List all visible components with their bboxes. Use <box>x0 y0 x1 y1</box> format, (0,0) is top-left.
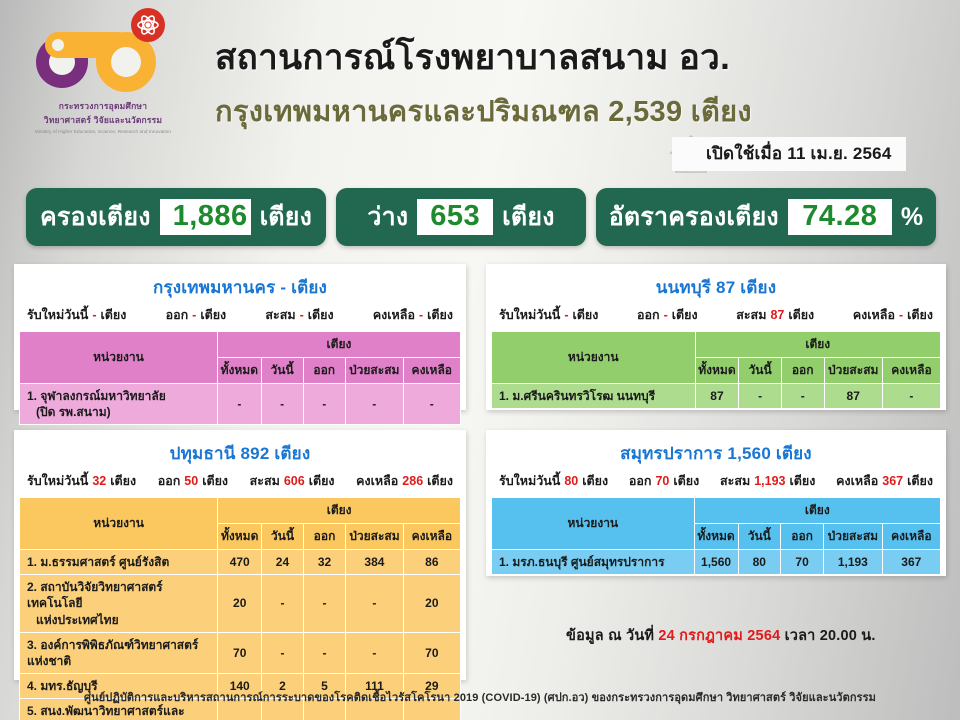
stat-value-rate: 74.28 <box>788 199 892 235</box>
table-row: 2. สถาบันวิจัยวิทยาศาสตร์เทคโนโลยี แห่งป… <box>20 575 461 633</box>
mhesi-logo-mark <box>22 6 184 98</box>
col-cumulative: ป่วยสะสม <box>346 524 404 550</box>
table-header-group-row: หน่วยงาน เตียง <box>20 332 461 358</box>
col-today: วันนี้ <box>738 524 781 550</box>
asof-prefix: ข้อมูล ณ วันที่ <box>566 628 654 644</box>
stat-label-rate-right: % <box>901 203 923 232</box>
col-today: วันนี้ <box>739 358 781 384</box>
card-title-nonthaburi: นนทบุรี 87 เตียง <box>491 269 941 305</box>
province-card-bangkok: กรุงเทพมหานคร - เตียง รับใหม่วันนี้ - เต… <box>14 264 466 410</box>
cell-total: - <box>217 384 261 425</box>
col-remaining: คงเหลือ <box>403 358 460 384</box>
page-footer: ศูนย์ปฏิบัติการและบริหารสถานการณ์การระบา… <box>0 688 960 706</box>
col-today: วันนี้ <box>261 358 303 384</box>
cell-total: 1,560 <box>694 550 738 575</box>
cell-total: 470 <box>218 550 262 575</box>
stat-label-occupied-right: เตียง <box>260 197 312 237</box>
stat-card-occupancy-rate: อัตราครองเตียง 74.28 % <box>596 188 936 246</box>
cell-today: - <box>739 384 781 409</box>
stat-card-occupied-beds: ครองเตียง 1,886 เตียง <box>26 188 326 246</box>
bed-table-samutprakan: หน่วยงาน เตียง ทั้งหมด วันนี้ ออก ป่วยสะ… <box>491 497 941 575</box>
cell-remaining: - <box>403 384 460 425</box>
col-out: ออก <box>303 358 345 384</box>
table-row: 1. จุฬาลงกรณ์มหาวิทยาลัย (ปิด รพ.สนาม) -… <box>20 384 461 425</box>
summary-cumulative: สะสม 606 เตียง <box>250 471 335 491</box>
col-total: ทั้งหมด <box>218 524 262 550</box>
bed-table-nonthaburi: หน่วยงาน เตียง ทั้งหมด วันนี้ ออก ป่วยสะ… <box>491 331 941 409</box>
col-remaining: คงเหลือ <box>403 524 460 550</box>
cell-total: 70 <box>218 632 262 673</box>
col-group-beds: เตียง <box>694 498 940 524</box>
cell-out: - <box>303 575 345 633</box>
col-today: วันนี้ <box>262 524 304 550</box>
cell-today: - <box>262 632 304 673</box>
cell-out: - <box>303 632 345 673</box>
summary-out: ออก 70 เตียง <box>629 471 699 491</box>
card-summary-pathumthani: รับใหม่วันนี้ 32 เตียง ออก 50 เตียง สะสม… <box>19 471 461 497</box>
cell-unit-name: 2. สถาบันวิจัยวิทยาศาสตร์เทคโนโลยี แห่งป… <box>20 575 218 633</box>
col-cumulative: ป่วยสะสม <box>824 358 882 384</box>
cell-unit-name: 1. จุฬาลงกรณ์มหาวิทยาลัย (ปิด รพ.สนาม) <box>20 384 218 425</box>
province-card-nonthaburi: นนทบุรี 87 เตียง รับใหม่วันนี้ - เตียง อ… <box>486 264 946 410</box>
cell-unit-name: 3. องค์การพิพิธภัณฑ์วิทยาศาสตร์แห่งชาติ <box>20 632 218 673</box>
cell-remaining: 20 <box>403 575 460 633</box>
summary-cumulative: สะสม 1,193 เตียง <box>720 471 815 491</box>
stat-label-occupied-left: ครองเตียง <box>40 197 151 237</box>
col-total: ทั้งหมด <box>694 524 738 550</box>
stat-value-available: 653 <box>417 199 493 235</box>
summary-stats-row: ครองเตียง 1,886 เตียง ว่าง 653 เตียง อัต… <box>0 188 960 252</box>
province-card-samutprakan: สมุทรปราการ 1,560 เตียง รับใหม่วันนี้ 80… <box>486 430 946 576</box>
cell-cumulative: 1,193 <box>824 550 883 575</box>
col-out: ออก <box>781 358 824 384</box>
cell-out: - <box>303 384 345 425</box>
opened-date-badge: เปิดใช้เมื่อ 11 เม.ย. 2564 <box>672 137 906 171</box>
cell-unit-name: 1. ม.ศรีนครินทรวิโรฒ นนทบุรี <box>492 384 696 409</box>
table-header-group-row: หน่วยงาน เตียง <box>492 332 941 358</box>
col-group-beds: เตียง <box>217 332 460 358</box>
stat-value-occupied: 1,886 <box>160 199 251 235</box>
card-title-samutprakan: สมุทรปราการ 1,560 เตียง <box>491 435 941 471</box>
asof-date: 24 กรกฎาคม 2564 <box>658 628 780 644</box>
cell-cumulative: - <box>345 384 403 425</box>
page-subtitle: กรุงเทพมหานครและปริมณฑล 2,539 เตียง <box>215 88 752 134</box>
cell-cumulative: 87 <box>824 384 882 409</box>
col-out: ออก <box>781 524 824 550</box>
cell-out: 32 <box>303 550 345 575</box>
col-total: ทั้งหมด <box>695 358 739 384</box>
bed-table-bangkok: หน่วยงาน เตียง ทั้งหมด วันนี้ ออก ป่วยสะ… <box>19 331 461 425</box>
col-remaining: คงเหลือ <box>882 524 940 550</box>
cell-cumulative: - <box>346 632 404 673</box>
stat-label-rate-left: อัตราครองเตียง <box>609 197 779 237</box>
cell-out: 70 <box>781 550 824 575</box>
col-cumulative: ป่วยสะสม <box>345 358 403 384</box>
table-row: 3. องค์การพิพิธภัณฑ์วิทยาศาสตร์แห่งชาติ … <box>20 632 461 673</box>
logo-thai-line1: กระทรวงการอุดมศึกษา <box>22 99 184 113</box>
asof-suffix: เวลา 20.00 น. <box>785 628 876 644</box>
summary-new-today: รับใหม่วันนี้ - เตียง <box>499 305 598 325</box>
col-unit: หน่วยงาน <box>20 498 218 550</box>
cell-remaining: 70 <box>403 632 460 673</box>
cell-total: 87 <box>695 384 739 409</box>
summary-remaining: คงเหลือ 286 เตียง <box>356 471 453 491</box>
col-total: ทั้งหมด <box>217 358 261 384</box>
cell-today: - <box>261 384 303 425</box>
summary-remaining: คงเหลือ 367 เตียง <box>836 471 933 491</box>
summary-out: ออก - เตียง <box>637 305 698 325</box>
summary-remaining: คงเหลือ - เตียง <box>853 305 933 325</box>
summary-new-today: รับใหม่วันนี้ - เตียง <box>27 305 126 325</box>
col-remaining: คงเหลือ <box>882 358 940 384</box>
summary-cumulative: สะสม 87 เตียง <box>736 305 814 325</box>
cell-cumulative: 384 <box>346 550 404 575</box>
table-row: 1. ม.ธรรมศาสตร์ ศูนย์รังสิต 470 24 32 38… <box>20 550 461 575</box>
summary-new-today: รับใหม่วันนี้ 80 เตียง <box>499 471 608 491</box>
cell-remaining: 86 <box>403 550 460 575</box>
stat-label-available-left: ว่าง <box>367 197 408 237</box>
mhesi-logo: กระทรวงการอุดมศึกษา วิทยาศาสตร์ วิจัยและ… <box>22 6 184 132</box>
card-summary-nonthaburi: รับใหม่วันนี้ - เตียง ออก - เตียง สะสม 8… <box>491 305 941 331</box>
card-title-pathumthani: ปทุมธานี 892 เตียง <box>19 435 461 471</box>
cell-cumulative: - <box>346 575 404 633</box>
cell-remaining: 367 <box>882 550 940 575</box>
col-unit: หน่วยงาน <box>492 498 695 550</box>
bed-table-pathumthani: หน่วยงาน เตียง ทั้งหมด วันนี้ ออก ป่วยสะ… <box>19 497 461 720</box>
page-header: กระทรวงการอุดมศึกษา วิทยาศาสตร์ วิจัยและ… <box>0 0 960 182</box>
cell-remaining: - <box>882 384 940 409</box>
col-out: ออก <box>303 524 345 550</box>
data-asof-line: ข้อมูล ณ วันที่ 24 กรกฎาคม 2564 เวลา 20.… <box>566 624 876 647</box>
table-header-group-row: หน่วยงาน เตียง <box>492 498 941 524</box>
stat-card-available-beds: ว่าง 653 เตียง <box>336 188 586 246</box>
stat-label-available-right: เตียง <box>502 197 554 237</box>
card-summary-bangkok: รับใหม่วันนี้ - เตียง ออก - เตียง สะสม -… <box>19 305 461 331</box>
cell-total: 20 <box>218 575 262 633</box>
col-unit: หน่วยงาน <box>492 332 696 384</box>
summary-out: ออก 50 เตียง <box>158 471 228 491</box>
cell-unit-name: 1. มรภ.ธนบุรี ศูนย์สมุทรปราการ <box>492 550 695 575</box>
summary-cumulative: สะสม - เตียง <box>265 305 333 325</box>
card-summary-samutprakan: รับใหม่วันนี้ 80 เตียง ออก 70 เตียง สะสม… <box>491 471 941 497</box>
cell-today: 24 <box>262 550 304 575</box>
col-cumulative: ป่วยสะสม <box>824 524 883 550</box>
table-row: 1. ม.ศรีนครินทรวิโรฒ นนทบุรี 87 - - 87 - <box>492 384 941 409</box>
summary-out: ออก - เตียง <box>166 305 227 325</box>
col-unit: หน่วยงาน <box>20 332 218 384</box>
province-card-pathumthani: ปทุมธานี 892 เตียง รับใหม่วันนี้ 32 เตีย… <box>14 430 466 680</box>
cell-out: - <box>781 384 824 409</box>
summary-remaining: คงเหลือ - เตียง <box>373 305 453 325</box>
cell-unit-name: 1. ม.ธรรมศาสตร์ ศูนย์รังสิต <box>20 550 218 575</box>
cell-today: - <box>262 575 304 633</box>
table-row: 1. มรภ.ธนบุรี ศูนย์สมุทรปราการ 1,560 80 … <box>492 550 941 575</box>
col-group-beds: เตียง <box>218 498 461 524</box>
page-title: สถานการณ์โรงพยาบาลสนาม อว. <box>215 30 730 85</box>
summary-new-today: รับใหม่วันนี้ 32 เตียง <box>27 471 136 491</box>
logo-english-line: Ministry of Higher Education, Science, R… <box>22 129 184 134</box>
logo-thai-line2: วิทยาศาสตร์ วิจัยและนวัตกรรม <box>22 113 184 127</box>
card-title-bangkok: กรุงเทพมหานคร - เตียง <box>19 269 461 305</box>
cell-today: 80 <box>738 550 781 575</box>
col-group-beds: เตียง <box>695 332 941 358</box>
table-header-group-row: หน่วยงาน เตียง <box>20 498 461 524</box>
